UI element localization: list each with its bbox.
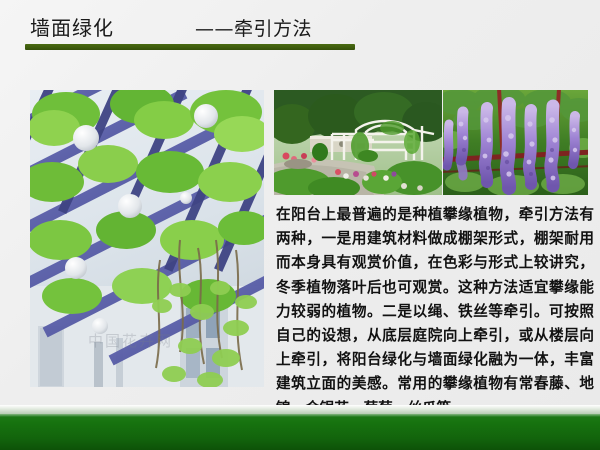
pergola-trellis-illustration [30,90,264,387]
bottom-green-band [0,414,600,450]
page-title: 墙面绿化 [30,14,114,42]
bottom-band-highlight [0,414,600,417]
title-underline-rule [25,44,355,50]
pergola-trellis-photo [30,90,264,387]
slide-canvas: 墙面绿化 ——牵引方法 [0,0,600,450]
garden-arbor-photo [274,90,442,195]
slide-title-block: 墙面绿化 ——牵引方法 [25,14,365,52]
wisteria-illustration [443,90,588,195]
garden-arbor-illustration [274,90,442,195]
bottom-separator [0,405,600,414]
body-paragraph: 在阳台上最普遍的是种植攀缘植物，牵引方法有两种，一是用建筑材料做成棚架形式，棚架… [276,203,594,421]
page-subtitle: ——牵引方法 [195,15,312,43]
wisteria-photo [443,90,588,195]
